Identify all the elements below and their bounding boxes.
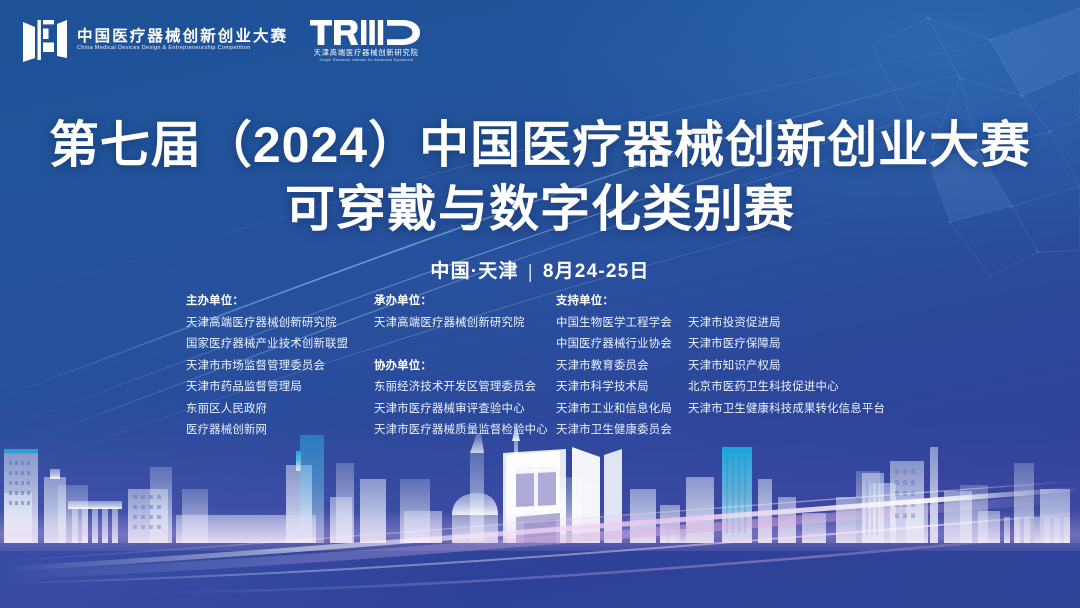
organizer-column-organizer: 承办单位： 天津高端医疗器械创新研究院 协办单位： 东丽经济技术开发区管理委员会… [374, 291, 556, 442]
column-spacer [374, 334, 556, 356]
host-item: 天津市药品监督管理局 [186, 377, 374, 399]
co-organizer-item: 天津市医疗器械审评查验中心 [374, 399, 556, 421]
triid-wordmark-icon [310, 19, 422, 46]
host-item: 天津高端医疗器械创新研究院 [186, 313, 374, 335]
support-item: 天津市投资促进局 [688, 313, 885, 335]
host-item: 国家医疗器械产业技术创新联盟 [186, 334, 374, 356]
co-organizer-heading: 协办单位： [374, 356, 556, 378]
support-item: 天津市工业和信息化局 [556, 399, 688, 421]
institute-logo: 天津高端医疗器械创新研究院 Tianjin Research Institute… [310, 18, 422, 63]
event-poster: 中国医疗器械创新创业大赛 China Medical Devices Desig… [0, 0, 1080, 608]
co-organizer-item: 天津市医疗器械质量监督检验中心 [374, 420, 556, 442]
door-frame-icon [22, 18, 68, 62]
event-date: 8月24-25日 [543, 261, 650, 282]
event-location: 中国·天津 [430, 261, 518, 282]
support-item: 天津市医疗保障局 [688, 334, 885, 356]
support-item: 天津市卫生健康委员会 [556, 420, 688, 442]
organizer-item: 天津高端医疗器械创新研究院 [374, 313, 556, 335]
organizer-column-host: 主办单位： 天津高端医疗器械创新研究院 国家医疗器械产业技术创新联盟 天津市市场… [186, 291, 374, 442]
support-heading: 支持单位： [556, 291, 688, 313]
subtitle-separator: | [528, 262, 534, 284]
title-line-1: 第七届（2024）中国医疗器械创新创业大赛 [0, 116, 1080, 174]
organizer-list: 主办单位： 天津高端医疗器械创新研究院 国家医疗器械产业技术创新联盟 天津市市场… [186, 291, 926, 442]
support-item: 天津市卫生健康科技成果转化信息平台 [688, 399, 885, 421]
competition-logo-en: China Medical Devices Design & Entrepren… [77, 46, 292, 51]
organizer-column-support-right: 天津市投资促进局 天津市医疗保障局 天津市知识产权局 北京市医药卫生科技促进中心… [688, 291, 885, 420]
organizer-column-support-left: 支持单位： 中国生物医学工程学会 中国医疗器械行业协会 天津市教育委员会 天津市… [556, 291, 688, 442]
support-item: 天津市科学技术局 [556, 377, 688, 399]
poster-title: 第七届（2024）中国医疗器械创新创业大赛 可穿戴与数字化类别赛 [0, 116, 1080, 238]
host-item: 天津市市场监督管理委员会 [186, 356, 374, 378]
header-logos: 中国医疗器械创新创业大赛 China Medical Devices Desig… [22, 18, 422, 63]
skyline-door-emblem [503, 447, 622, 543]
support-item: 天津市教育委员会 [556, 356, 688, 378]
title-line-2: 可穿戴与数字化类别赛 [0, 180, 1080, 238]
support-item: 天津市知识产权局 [688, 356, 885, 378]
organizer-heading: 承办单位： [374, 291, 556, 313]
host-heading: 主办单位： [186, 291, 374, 313]
support-item: 中国生物医学工程学会 [556, 313, 688, 335]
host-item: 医疗器械创新网 [186, 420, 374, 442]
host-item: 东丽区人民政府 [186, 399, 374, 421]
support-item: 北京市医药卫生科技促进中心 [688, 377, 885, 399]
institute-logo-en: Tianjin Research Institute for Advanced … [319, 59, 413, 63]
competition-logo: 中国医疗器械创新创业大赛 China Medical Devices Desig… [22, 18, 288, 62]
co-organizer-item: 东丽经济技术开发区管理委员会 [374, 377, 556, 399]
institute-logo-cn: 天津高端医疗器械创新研究院 [314, 49, 419, 56]
support-item: 中国医疗器械行业协会 [556, 334, 688, 356]
competition-logo-cn: 中国医疗器械创新创业大赛 [77, 29, 288, 45]
event-subtitle: 中国·天津|8月24-25日 [0, 256, 1080, 283]
